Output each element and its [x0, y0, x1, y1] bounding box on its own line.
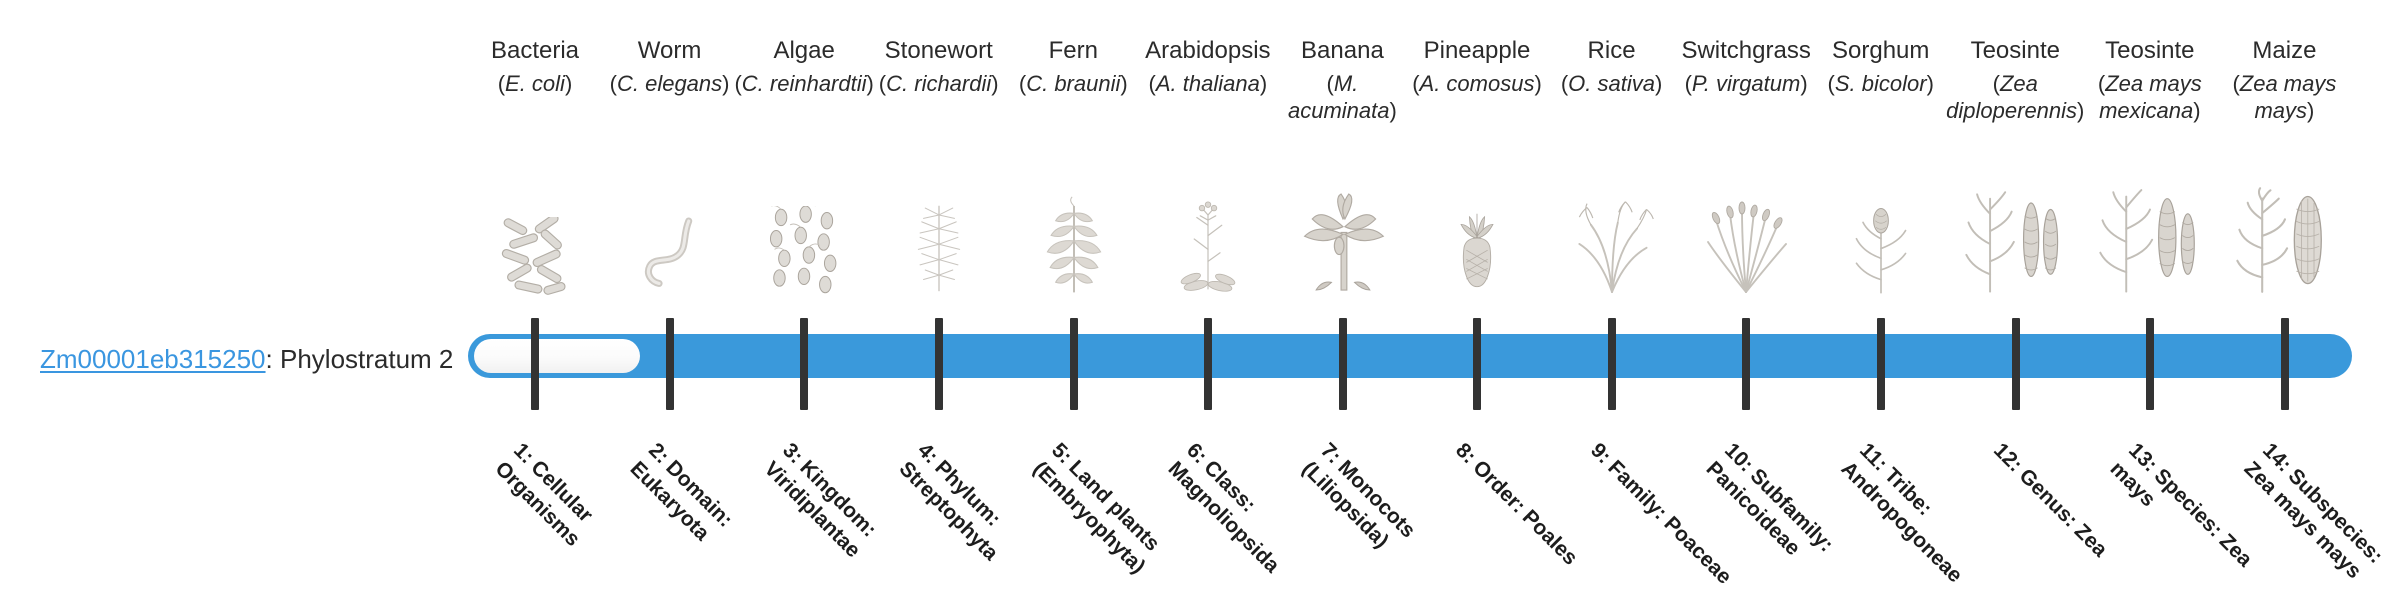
species-scientific-name: (M. acuminata): [1269, 70, 1415, 124]
phylostratum-tick: [800, 318, 808, 410]
species-scientific-name: (A. comosus): [1404, 70, 1550, 97]
banana-icon: [1275, 168, 1410, 296]
phylostratum-tick: [531, 318, 539, 410]
species-scientific-name: (A. thaliana): [1135, 70, 1281, 97]
species-scientific-name: (E. coli): [462, 70, 608, 97]
species-scientific-name: (C. reinhardtii): [731, 70, 877, 97]
species-name-group: Switchgrass(P. virgatum): [1673, 36, 1819, 97]
species-name-group: Stonewort(C. richardii): [866, 36, 1012, 97]
species-common-name: Arabidopsis: [1135, 36, 1281, 66]
species-column: Maize(Zea mays mays)14: Subspecies: Zea …: [2217, 0, 2352, 580]
switchgrass-icon: [1679, 168, 1814, 296]
species-name-group: Sorghum(S. bicolor): [1808, 36, 1954, 97]
species-name-group: Fern(C. braunii): [1000, 36, 1146, 97]
species-scientific-name: (P. virgatum): [1673, 70, 1819, 97]
species-common-name: Switchgrass: [1673, 36, 1819, 66]
species-column: Banana(M. acuminata)7: Monocots (Liliops…: [1275, 0, 1410, 580]
worm-icon: [603, 168, 738, 296]
species-scientific-name: (Zea mays mexicana): [2077, 70, 2223, 124]
maize-icon: [2217, 168, 2352, 296]
species-scientific-name: (Zea diploperennis): [1942, 70, 2088, 124]
phylostratum-tick: [2012, 318, 2020, 410]
species-column: Worm(C. elegans)2: Domain: Eukaryota: [603, 0, 738, 580]
species-name-group: Teosinte(Zea mays mexicana): [2077, 36, 2223, 124]
arabidopsis-icon: [1141, 168, 1276, 296]
species-name-group: Maize(Zea mays mays): [2211, 36, 2357, 124]
species-common-name: Teosinte: [1942, 36, 2088, 66]
species-name-group: Pineapple(A. comosus): [1404, 36, 1550, 97]
species-common-name: Pineapple: [1404, 36, 1550, 66]
gene-id-link[interactable]: Zm00001eb315250: [40, 344, 266, 374]
species-common-name: Teosinte: [2077, 36, 2223, 66]
phylostratum-tick: [1204, 318, 1212, 410]
species-name-group: Rice(O. sativa): [1539, 36, 1685, 97]
species-common-name: Banana: [1269, 36, 1415, 66]
species-scientific-name: (O. sativa): [1539, 70, 1685, 97]
species-column: Bacteria(E. coli)1: Cellular Organisms: [468, 0, 603, 580]
phylostratum-tick: [1877, 318, 1885, 410]
species-column: Teosinte(Zea diploperennis)12: Genus: Ze…: [1948, 0, 2083, 580]
species-column: Arabidopsis(A. thaliana)6: Class: Magnol…: [1141, 0, 1276, 580]
phylostratum-tick: [1339, 318, 1347, 410]
phylostratum-tick: [1608, 318, 1616, 410]
phylostratum-tick: [1742, 318, 1750, 410]
phylostratum-tick: [935, 318, 943, 410]
species-common-name: Bacteria: [462, 36, 608, 66]
species-name-group: Algae(C. reinhardtii): [731, 36, 877, 97]
species-name-group: Teosinte(Zea diploperennis): [1942, 36, 2088, 124]
phylostratum-tick: [2146, 318, 2154, 410]
species-column: Rice(O. sativa)9: Family: Poaceae: [1545, 0, 1680, 580]
species-scientific-name: (Zea mays mays): [2211, 70, 2357, 124]
species-column: Stonewort(C. richardii)4: Phylum: Strept…: [872, 0, 1007, 580]
species-column: Algae(C. reinhardtii)3: Kingdom: Viridip…: [737, 0, 872, 580]
species-scientific-name: (S. bicolor): [1808, 70, 1954, 97]
species-name-group: Banana(M. acuminata): [1269, 36, 1415, 124]
species-scientific-name: (C. braunii): [1000, 70, 1146, 97]
species-common-name: Fern: [1000, 36, 1146, 66]
species-name-group: Worm(C. elegans): [597, 36, 743, 97]
species-common-name: Stonewort: [866, 36, 1012, 66]
phylostratigraphy-chart: Zm00001eb315250: Phylostratum 2 Bacteria…: [0, 0, 2400, 580]
phylostratum-tick: [1070, 318, 1078, 410]
phylostratum-tick: [2281, 318, 2289, 410]
species-common-name: Rice: [1539, 36, 1685, 66]
species-column: Switchgrass(P. virgatum)10: Subfamily: P…: [1679, 0, 1814, 580]
gene-label-separator: :: [266, 344, 280, 374]
phylostratum-tick: [666, 318, 674, 410]
species-column: Teosinte(Zea mays mexicana)13: Species: …: [2083, 0, 2218, 580]
species-name-group: Arabidopsis(A. thaliana): [1135, 36, 1281, 97]
gene-phylostratum-label: Zm00001eb315250: Phylostratum 2: [40, 344, 453, 375]
teosinte-diploperennis-icon: [1948, 168, 2083, 296]
species-common-name: Maize: [2211, 36, 2357, 66]
species-columns: Bacteria(E. coli)1: Cellular OrganismsWo…: [468, 0, 2352, 580]
species-scientific-name: (C. richardii): [866, 70, 1012, 97]
gene-phylostratum-value: Phylostratum 2: [280, 344, 453, 374]
sorghum-icon: [1814, 168, 1949, 296]
stonewort-icon: [872, 168, 1007, 296]
species-scientific-name: (C. elegans): [597, 70, 743, 97]
species-column: Pineapple(A. comosus)8: Order: Poales: [1410, 0, 1545, 580]
algae-icon: [737, 168, 872, 296]
species-common-name: Worm: [597, 36, 743, 66]
teosinte-mexicana-icon: [2083, 168, 2218, 296]
species-column: Fern(C. braunii)5: Land plants (Embryoph…: [1006, 0, 1141, 580]
fern-icon: [1006, 168, 1141, 296]
species-common-name: Algae: [731, 36, 877, 66]
bacteria-icon: [468, 168, 603, 296]
pineapple-icon: [1410, 168, 1545, 296]
species-column: Sorghum(S. bicolor)11: Tribe: Andropogon…: [1814, 0, 1949, 580]
rice-icon: [1545, 168, 1680, 296]
species-name-group: Bacteria(E. coli): [462, 36, 608, 97]
phylostratum-tick: [1473, 318, 1481, 410]
species-common-name: Sorghum: [1808, 36, 1954, 66]
